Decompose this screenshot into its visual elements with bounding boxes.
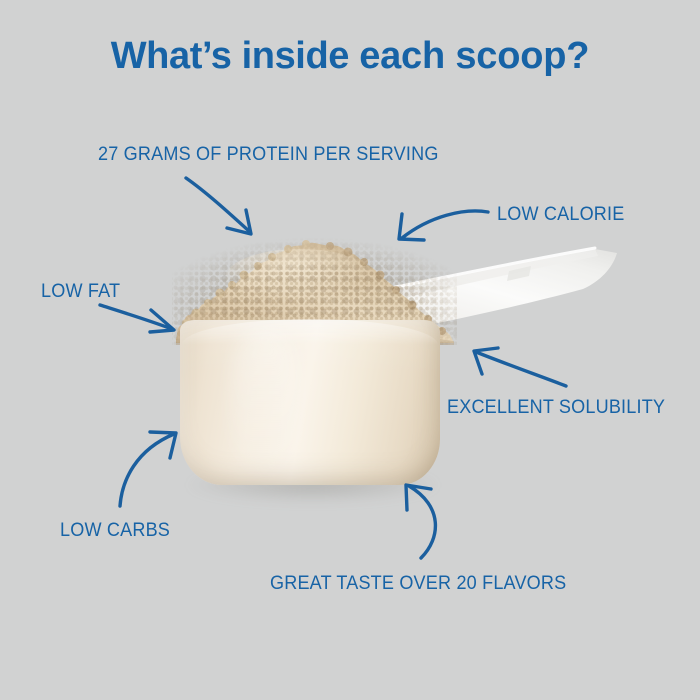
infographic-canvas: What’s inside each scoop?	[0, 0, 700, 700]
label-low-carbs: LOW CARBS	[60, 519, 170, 542]
label-excellent-solubility: EXCELLENT SOLUBILITY	[447, 396, 665, 419]
protein-powder-scoop-photo	[80, 235, 640, 525]
label-low-fat: LOW FAT	[41, 280, 120, 303]
label-protein: 27 GRAMS OF PROTEIN PER SERVING	[98, 143, 439, 166]
label-great-taste: GREAT TASTE OVER 20 FLAVORS	[270, 572, 566, 595]
label-low-calorie: LOW CALORIE	[497, 203, 624, 226]
page-title: What’s inside each scoop?	[0, 32, 700, 80]
page-title-light: What’s inside	[111, 35, 359, 77]
page-title-bold: each scoop?	[359, 35, 589, 77]
curved-arrow-down-right-icon	[180, 172, 270, 244]
scoop-cup-sheen	[230, 331, 300, 476]
